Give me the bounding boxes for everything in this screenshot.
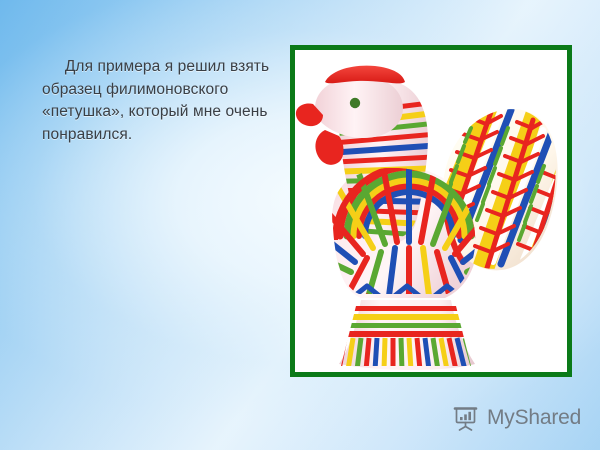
rooster-comb bbox=[325, 66, 405, 84]
rooster-eye bbox=[350, 98, 360, 108]
slide-caption-text: Для примера я решил взять образец филимо… bbox=[42, 56, 270, 147]
rooster-tail bbox=[433, 102, 567, 274]
rooster-wattle bbox=[315, 130, 343, 165]
filimonovo-rooster-illustration bbox=[295, 50, 567, 372]
image-frame bbox=[290, 45, 572, 377]
rooster-base-skirt bbox=[335, 300, 485, 370]
presentation-slide: Для примера я решил взять образец филимо… bbox=[0, 0, 600, 450]
myshared-watermark: MyShared bbox=[452, 401, 581, 435]
easel-chart-icon bbox=[452, 404, 480, 432]
myshared-label: MyShared bbox=[487, 406, 581, 430]
image-canvas bbox=[295, 50, 567, 372]
